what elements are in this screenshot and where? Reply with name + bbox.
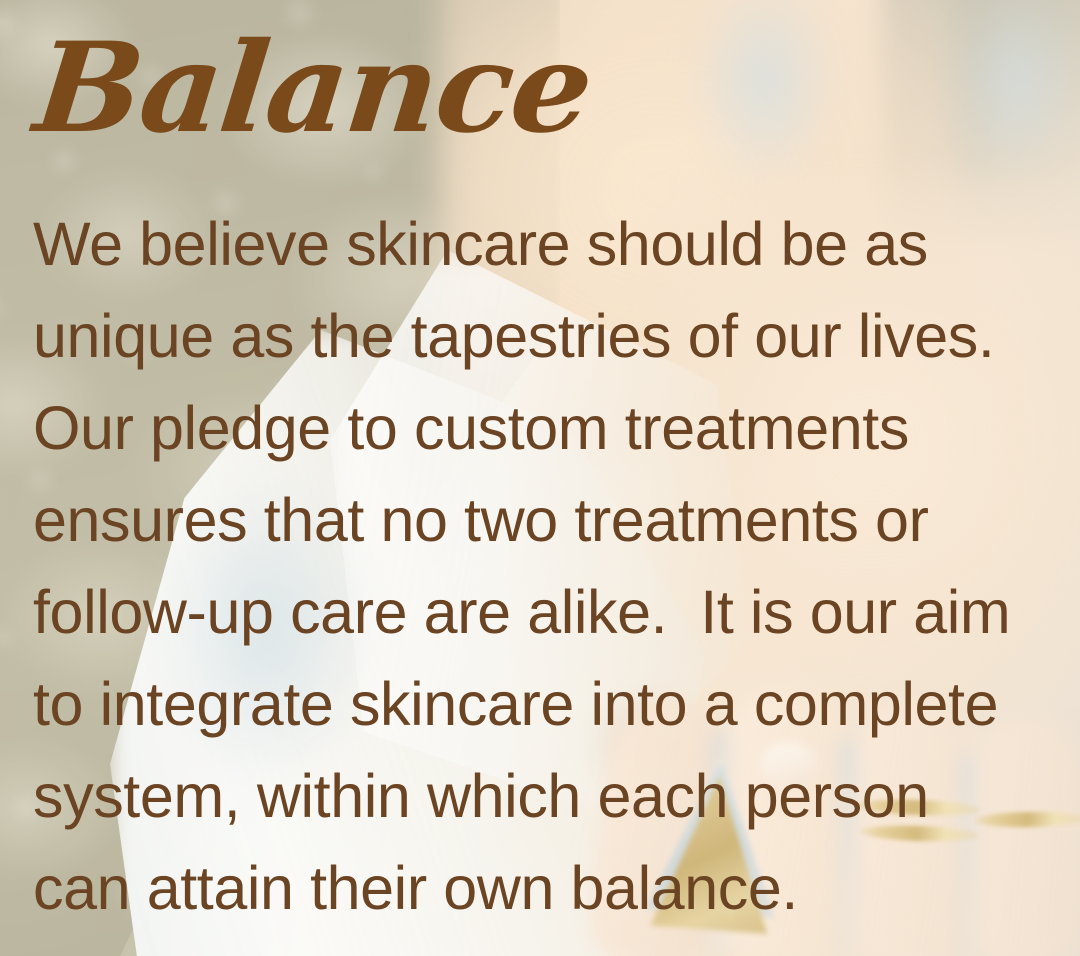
body-line: Our pledge to custom treatments [33, 382, 1080, 474]
body-line: to integrate skincare into a complete [33, 658, 1080, 750]
body-line: unique as the tapestries of our lives. [33, 290, 1080, 382]
body-line: ensures that no two treatments or [33, 474, 1080, 566]
body-line: system, within which each person [33, 750, 1080, 842]
body-line: We believe skincare should be as [33, 198, 1080, 290]
page-title: Balance [29, 22, 597, 156]
body-copy: We believe skincare should be as unique … [33, 198, 1080, 934]
quote-graphic: Balance We believe skincare should be as… [0, 0, 1080, 956]
body-line: follow-up care are alike. It is our aim [33, 566, 1080, 658]
body-line: can attain their own balance. [33, 842, 1080, 934]
text-overlay: Balance We believe skincare should be as… [0, 0, 1080, 956]
